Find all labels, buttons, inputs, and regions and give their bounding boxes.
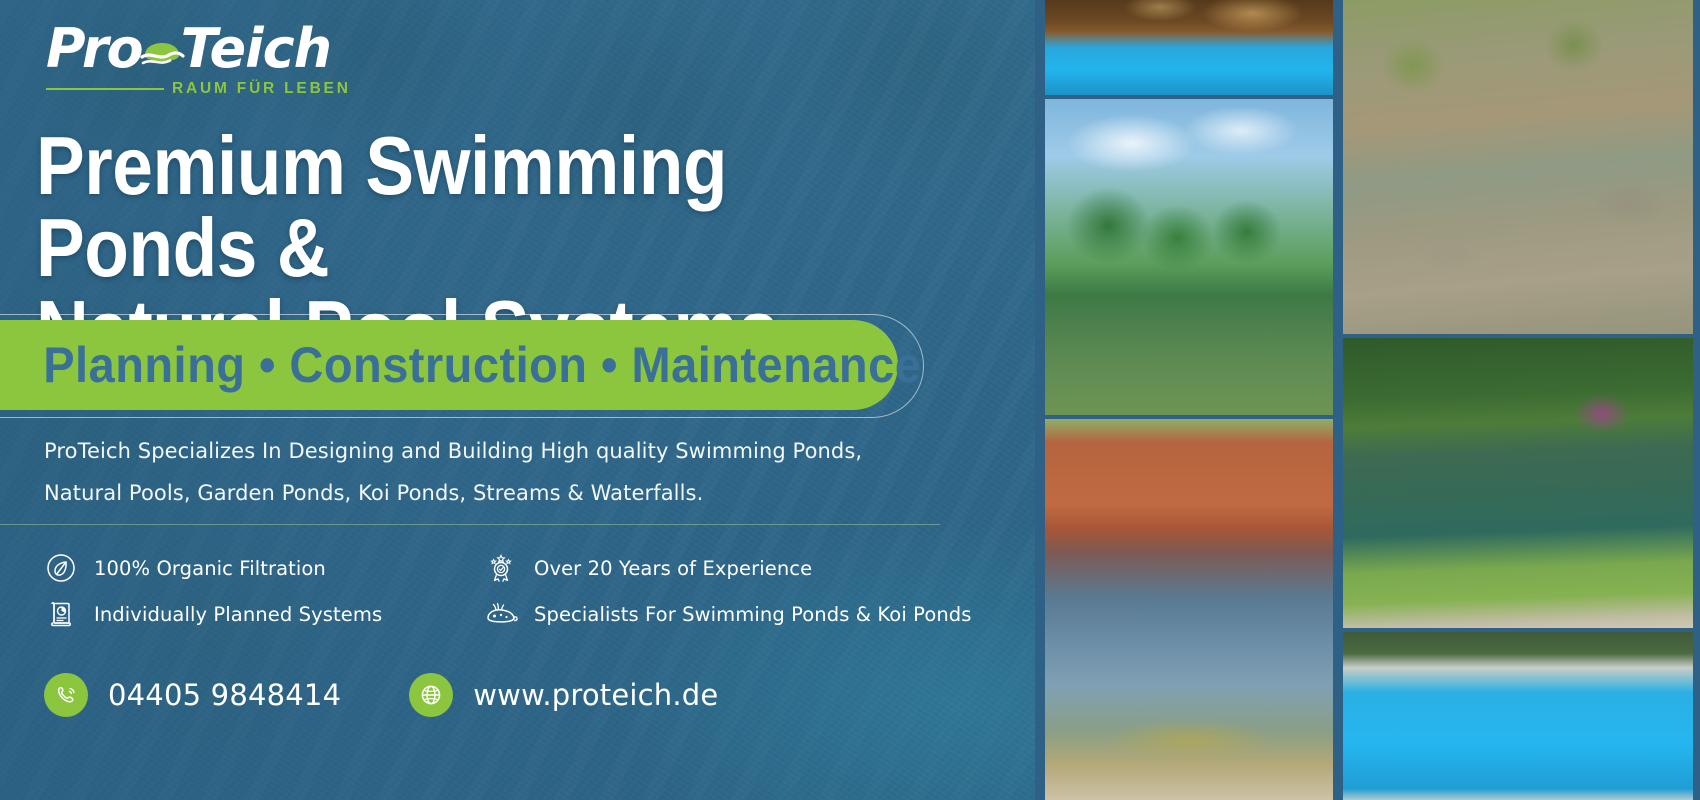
gallery-image: [1045, 419, 1333, 800]
hero-panel: Pro Teich RAUM FÜR LEBEN Premium Swimmin…: [0, 0, 1035, 800]
photo-gallery: [1035, 0, 1700, 800]
feature-list: 100% Organic Filtration: [44, 545, 984, 637]
feature-label: Specialists For Swimming Ponds & Koi Pon…: [534, 603, 972, 626]
gallery-tile-natural-swimming-pond-garden[interactable]: [1045, 99, 1333, 415]
globe-icon[interactable]: [409, 673, 453, 717]
logo-tagline: RAUM FÜR LEBEN: [172, 80, 351, 98]
gallery-tile-turquoise-swimming-pool[interactable]: [1343, 632, 1693, 800]
blueprint-icon: [44, 597, 78, 631]
gallery-tile-brick-house-pond-reflection[interactable]: [1045, 419, 1333, 800]
gallery-image: [1343, 632, 1693, 800]
logo-text-teich: Teich: [181, 17, 331, 80]
feature-label: 100% Organic Filtration: [94, 557, 326, 580]
website-url[interactable]: www.proteich.de: [473, 678, 718, 712]
gallery-image: [1343, 0, 1693, 334]
promotional-banner: Pro Teich RAUM FÜR LEBEN Premium Swimmin…: [0, 0, 1700, 800]
description-line-2: Natural Pools, Garden Ponds, Koi Ponds, …: [44, 472, 924, 514]
brand-logo[interactable]: Pro Teich RAUM FÜR LEBEN: [46, 22, 351, 98]
feature-label: Over 20 Years of Experience: [534, 557, 812, 580]
feature-item-experience: Over 20 Years of Experience: [484, 545, 944, 591]
koi-fish-icon: [484, 597, 518, 631]
services-pill: Planning • Construction • Maintenance: [0, 320, 898, 410]
gallery-tile-green-natural-pool-lawn[interactable]: [1343, 338, 1693, 628]
description-block: ProTeich Specializes In Designing and Bu…: [44, 430, 924, 514]
feature-label: Individually Planned Systems: [94, 603, 382, 626]
logo-wordmark: Pro Teich: [46, 22, 351, 76]
leaf-wave-icon: [139, 29, 185, 73]
feature-item-planned-systems: Individually Planned Systems: [44, 591, 474, 637]
phone-icon[interactable]: [44, 673, 88, 717]
feature-item-koi-specialists: Specialists For Swimming Ponds & Koi Pon…: [484, 591, 944, 637]
logo-text-pro: Pro: [46, 17, 142, 80]
services-pill-label: Planning • Construction • Maintenance: [0, 336, 921, 394]
logo-divider-line: [46, 88, 164, 90]
gallery-image: [1045, 99, 1333, 415]
description-line-1: ProTeich Specializes In Designing and Bu…: [44, 430, 924, 472]
services-pill-container: Planning • Construction • Maintenance: [0, 320, 1035, 412]
gallery-image: [1045, 0, 1333, 95]
award-medal-icon: [484, 551, 518, 585]
phone-number[interactable]: 04405 9848414: [108, 678, 341, 712]
section-divider: [0, 524, 940, 525]
leaf-circle-icon: [44, 551, 78, 585]
gallery-tile-pool-terrace-evening[interactable]: [1045, 0, 1333, 95]
gallery-tile-rock-stream-waterfall[interactable]: [1343, 0, 1693, 334]
gallery-image: [1343, 338, 1693, 628]
contact-bar: 04405 9848414 www.proteich.de: [44, 673, 718, 717]
logo-tagline-row: RAUM FÜR LEBEN: [46, 80, 351, 98]
feature-item-organic-filtration: 100% Organic Filtration: [44, 545, 474, 591]
